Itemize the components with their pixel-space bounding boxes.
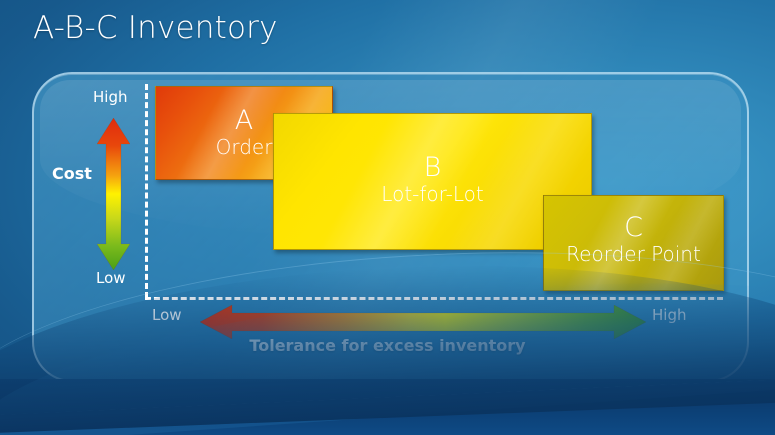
- box-b-letter: B: [274, 154, 591, 182]
- page-title: A-B-C Inventory: [33, 10, 278, 46]
- box-c-letter: C: [544, 214, 723, 242]
- cost-axis-low-label: Low: [96, 269, 126, 287]
- box-c-policy: Reorder Point: [544, 242, 723, 266]
- slide-canvas: A-B-C Inventory High Low Cost: [0, 0, 775, 435]
- box-b-content: B Lot-for-Lot: [274, 114, 591, 206]
- cost-gradient-arrow-icon: [97, 118, 130, 270]
- cost-axis-high-label: High: [93, 88, 127, 106]
- cost-axis-title: Cost: [52, 164, 92, 183]
- box-c-content: C Reorder Point: [544, 196, 723, 266]
- vertical-axis-dashed-line: [145, 84, 148, 298]
